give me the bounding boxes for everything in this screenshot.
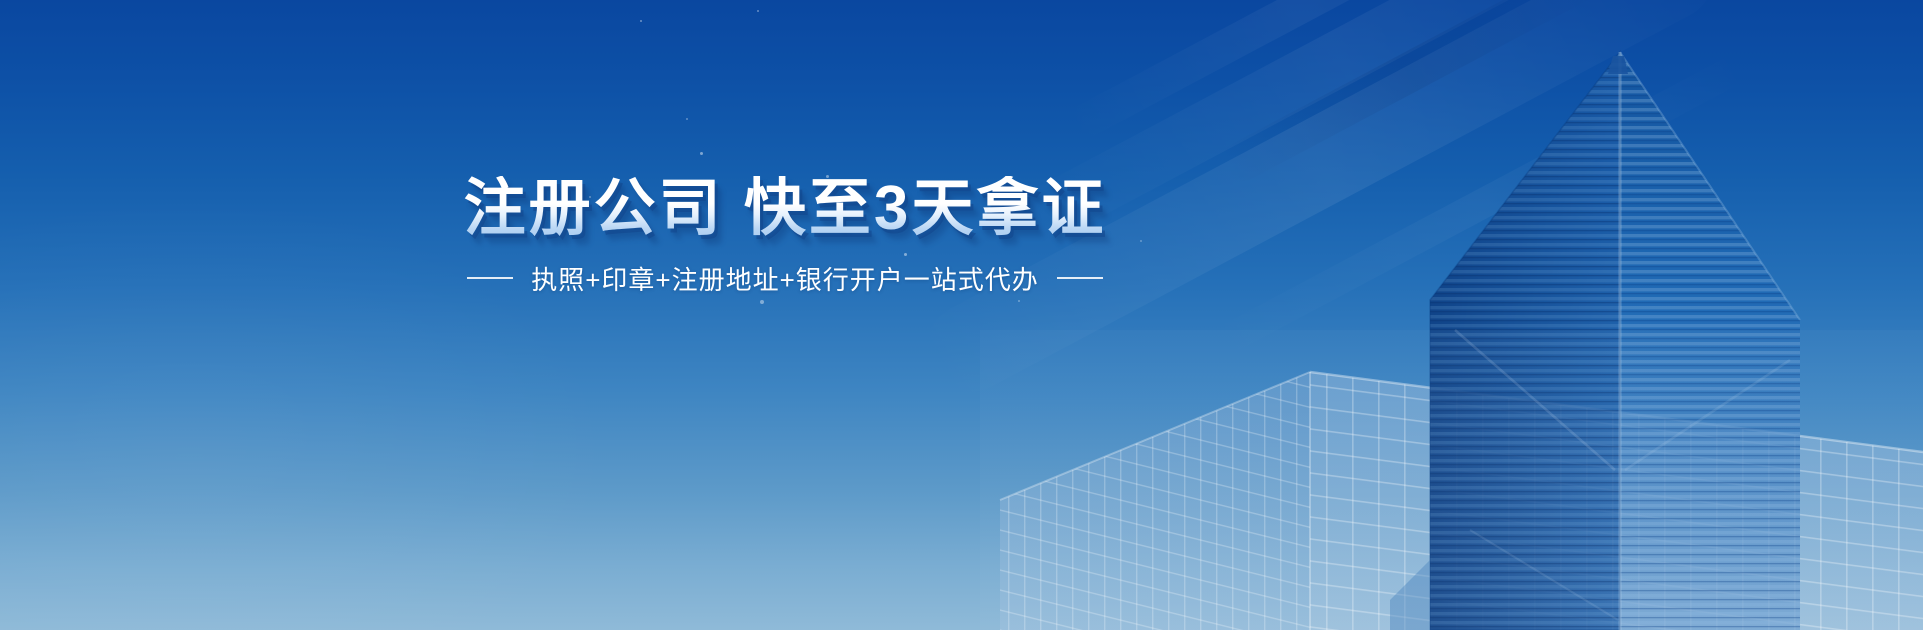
rule-left-decor xyxy=(467,277,513,279)
sparkle-dot xyxy=(640,20,642,22)
sparkle-dot xyxy=(686,118,688,120)
skyscraper-tower xyxy=(1390,40,1820,630)
sparkle-dot xyxy=(760,300,764,304)
diagonal-light-streaks xyxy=(0,0,1923,630)
page-subtitle: 执照+印章+注册地址+银行开户一站式代办 xyxy=(531,260,1039,297)
hero-banner: 注册公司 快至3天拿证 执照+印章+注册地址+银行开户一站式代办 xyxy=(0,0,1923,630)
glass-office-block xyxy=(990,369,1923,630)
page-title: 注册公司 快至3天拿证 xyxy=(0,176,1570,242)
light-streak-3 xyxy=(1062,0,1537,144)
subtitle-row: 执照+印章+注册地址+银行开户一站式代办 xyxy=(0,260,1570,297)
sparkle-dot xyxy=(757,10,759,12)
rule-right-decor xyxy=(1057,277,1103,279)
dark-streak-1 xyxy=(1215,0,1605,188)
sparkle-dot xyxy=(1018,300,1020,302)
sparkle-dot xyxy=(700,152,703,155)
city-skyline-illustration xyxy=(0,0,1923,630)
hero-text-block: 注册公司 快至3天拿证 执照+印章+注册地址+银行开户一站式代办 xyxy=(0,176,1570,297)
